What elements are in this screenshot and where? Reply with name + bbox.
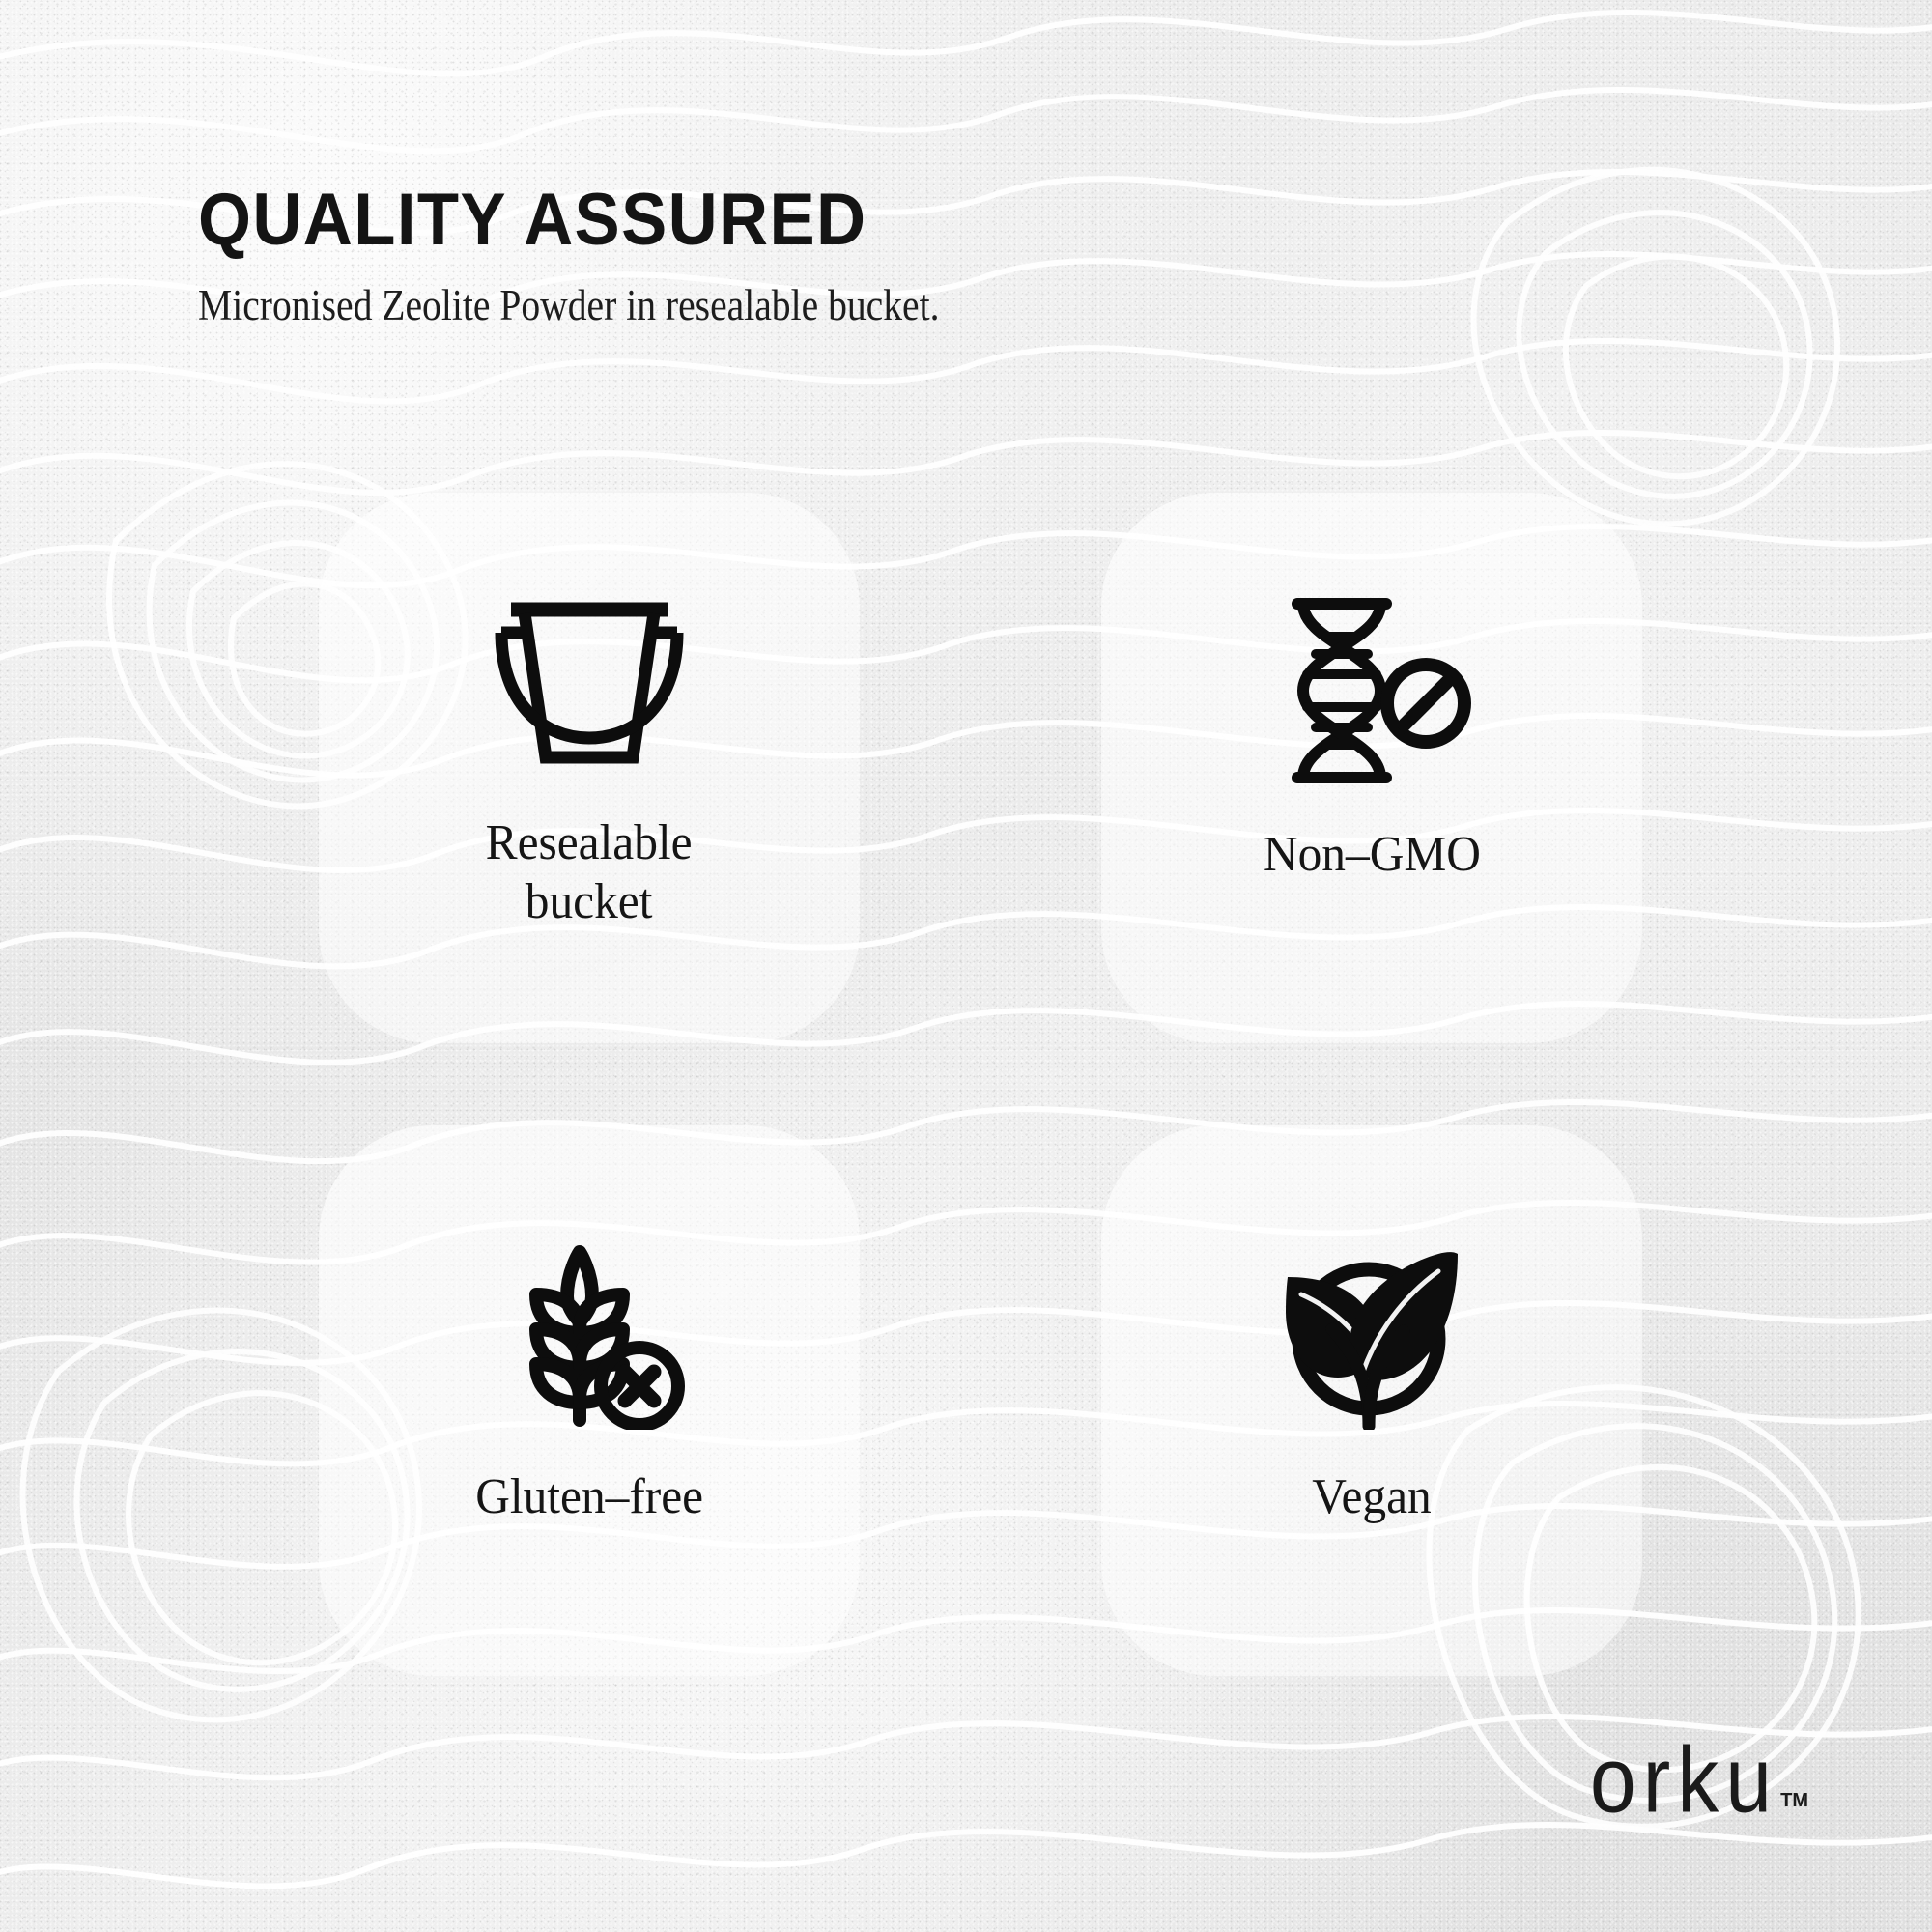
brand-wordmark: orku: [1590, 1738, 1778, 1824]
feature-card-non-gmo[interactable]: Non–GMO: [1101, 493, 1642, 1043]
wheat-cross-icon: [478, 1222, 700, 1444]
page-title: QUALITY ASSURED: [198, 184, 981, 257]
page-subtitle: Micronised Zeolite Powder in resealable …: [198, 282, 940, 330]
feature-label-gluten-free: Gluten–free: [475, 1467, 703, 1526]
dna-no-icon: [1261, 580, 1483, 802]
feature-label-vegan: Vegan: [1312, 1467, 1431, 1526]
feature-label-resealable-bucket: Resealablebucket: [486, 813, 693, 932]
feature-card-gluten-free[interactable]: Gluten–free: [319, 1125, 860, 1676]
feature-label-non-gmo: Non–GMO: [1263, 825, 1480, 884]
brand-logo: orku TM: [1590, 1747, 1808, 1824]
feature-card-resealable-bucket[interactable]: Resealablebucket: [319, 493, 860, 1043]
promo-graphic: QUALITY ASSURED Micronised Zeolite Powde…: [0, 0, 1932, 1932]
feature-card-vegan[interactable]: Vegan: [1101, 1125, 1642, 1676]
leaf-circle-icon: [1261, 1222, 1483, 1444]
trademark-mark: TM: [1780, 1790, 1808, 1812]
bucket-icon: [478, 568, 700, 790]
header: QUALITY ASSURED Micronised Zeolite Powde…: [198, 184, 1040, 330]
feature-grid: Resealablebucket: [319, 493, 1642, 1676]
